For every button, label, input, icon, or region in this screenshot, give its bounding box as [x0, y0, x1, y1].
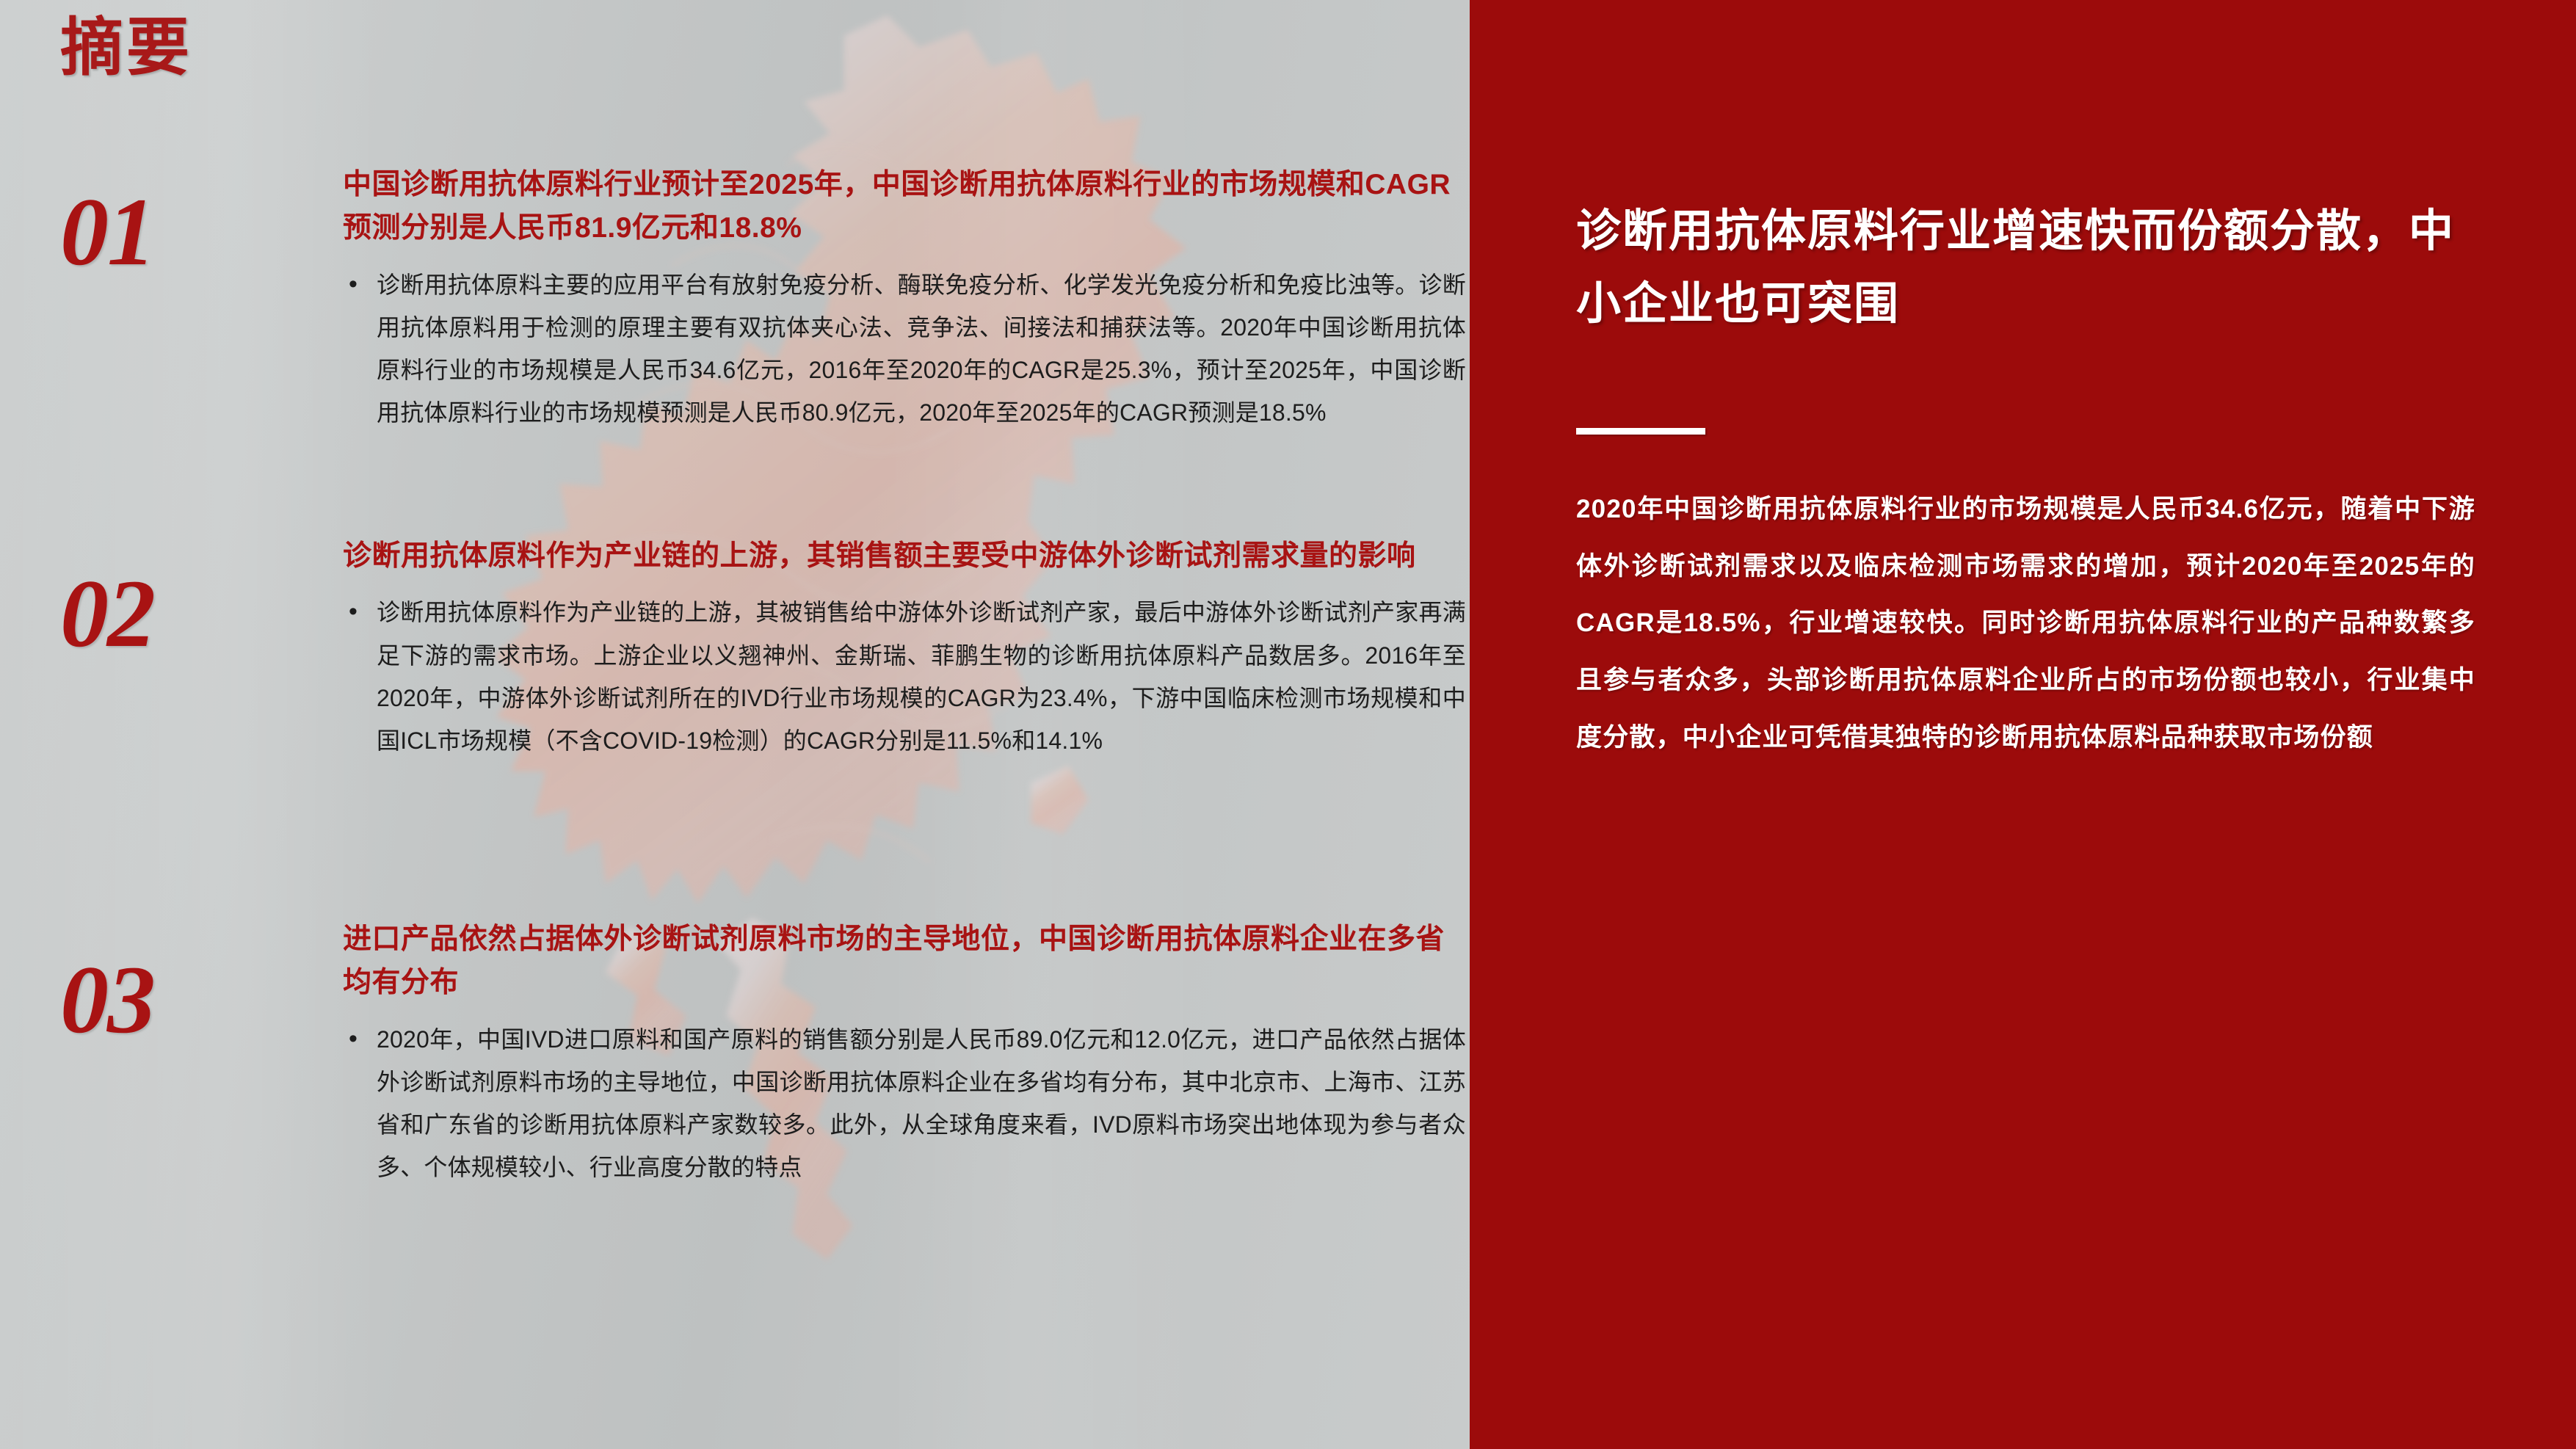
highlight-body: 2020年中国诊断用抗体原料行业的市场规模是人民币34.6亿元，随着中下游体外诊… [1576, 481, 2475, 766]
highlight-divider [1576, 428, 1705, 435]
slide-root: 摘要 01 中国诊断用抗体原料行业预计至2025年，中国诊断用抗体原料行业的市场… [0, 0, 2576, 1449]
summary-panel: 摘要 01 中国诊断用抗体原料行业预计至2025年，中国诊断用抗体原料行业的市场… [0, 0, 1470, 1449]
block-heading-01: 中国诊断用抗体原料行业预计至2025年，中国诊断用抗体原料行业的市场规模和CAG… [343, 163, 1466, 250]
block-number-02: 02 [60, 565, 154, 662]
highlight-title: 诊断用抗体原料行业增速快而份额分散，中小企业也可突围 [1576, 195, 2464, 340]
block-body-02: 诊断用抗体原料作为产业链的上游，其销售额主要受中游体外诊断试剂需求量的影响 诊断… [343, 534, 1466, 762]
block-heading-02: 诊断用抗体原料作为产业链的上游，其销售额主要受中游体外诊断试剂需求量的影响 [343, 534, 1466, 578]
bullet-list-01: 诊断用抗体原料主要的应用平台有放射免疫分析、酶联免疫分析、化学发光免疫分析和免疫… [343, 264, 1466, 435]
block-body-01: 中国诊断用抗体原料行业预计至2025年，中国诊断用抗体原料行业的市场规模和CAG… [343, 163, 1466, 434]
block-body-03: 进口产品依然占据体外诊断试剂原料市场的主导地位，中国诊断用抗体原料企业在多省均有… [343, 918, 1466, 1188]
block-number-01: 01 [60, 184, 154, 280]
block-number-03: 03 [60, 951, 154, 1048]
block-heading-03: 进口产品依然占据体外诊断试剂原料市场的主导地位，中国诊断用抗体原料企业在多省均有… [343, 918, 1466, 1005]
page-title: 摘要 [60, 13, 192, 83]
bullet-list-03: 2020年，中国IVD进口原料和国产原料的销售额分别是人民币89.0亿元和12.… [343, 1018, 1466, 1189]
bullet-list-02: 诊断用抗体原料作为产业链的上游，其被销售给中游体外诊断试剂产家，最后中游体外诊断… [343, 591, 1466, 762]
list-item: 诊断用抗体原料作为产业链的上游，其被销售给中游体外诊断试剂产家，最后中游体外诊断… [343, 591, 1466, 762]
list-item: 诊断用抗体原料主要的应用平台有放射免疫分析、酶联免疫分析、化学发光免疫分析和免疫… [343, 264, 1466, 435]
list-item: 2020年，中国IVD进口原料和国产原料的销售额分别是人民币89.0亿元和12.… [343, 1018, 1466, 1189]
highlight-panel: 诊断用抗体原料行业增速快而份额分散，中小企业也可突围 2020年中国诊断用抗体原… [1470, 0, 2576, 1449]
